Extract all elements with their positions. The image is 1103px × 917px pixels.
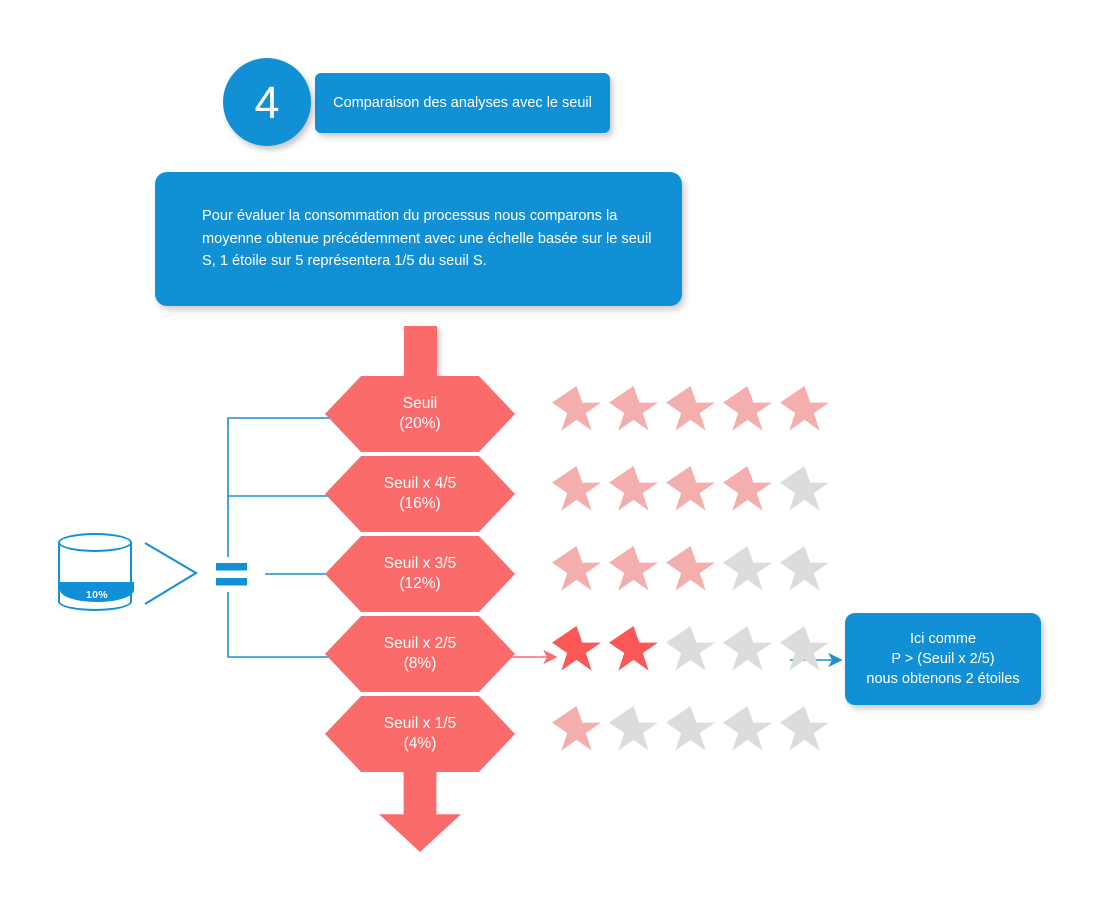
- threshold-percent: (20%): [399, 414, 440, 434]
- description-box: Pour évaluer la consommation du processu…: [155, 172, 682, 306]
- star-filled-icon: [780, 386, 829, 433]
- threshold-percent: (8%): [404, 654, 437, 674]
- threshold-label: Seuil x 1/5: [384, 714, 456, 734]
- star-filled-icon: [552, 386, 601, 433]
- star-filled-icon: [552, 546, 601, 593]
- star-filled-icon: [723, 386, 772, 433]
- star-empty-icon: [609, 706, 658, 753]
- star-filled-icon: [552, 466, 601, 513]
- star-filled-icon: [609, 386, 658, 433]
- threshold-row-1: Seuil (20%): [325, 376, 515, 452]
- star-filled-icon: [609, 626, 658, 673]
- callout-line-3: nous obtenons 2 étoiles: [866, 671, 1019, 687]
- threshold-label: Seuil x 2/5: [384, 634, 456, 654]
- threshold-percent: (12%): [399, 574, 440, 594]
- threshold-label: Seuil: [403, 394, 437, 414]
- connector-lines: [0, 0, 1103, 917]
- star-row-3: [552, 546, 837, 593]
- step-number-badge: 4: [223, 58, 311, 146]
- hexagon-shape: Seuil x 3/5 (12%): [325, 536, 515, 612]
- star-row-1: [552, 386, 837, 433]
- star-empty-icon: [666, 626, 715, 673]
- cylinder-bottom-arc: [58, 592, 132, 611]
- star-empty-icon: [666, 706, 715, 753]
- star-empty-icon: [723, 546, 772, 593]
- hexagon-shape: Seuil x 1/5 (4%): [325, 696, 515, 772]
- callout-line-2: P > (Seuil x 2/5): [891, 651, 994, 667]
- threshold-row-5: Seuil x 1/5 (4%): [325, 696, 515, 772]
- threshold-row-2: Seuil x 4/5 (16%): [325, 456, 515, 532]
- star-filled-icon: [552, 626, 601, 673]
- database-cylinder-icon: 10%: [58, 533, 132, 611]
- star-filled-icon: [609, 466, 658, 513]
- threshold-hexagon-stack: Seuil (20%) Seuil x 4/5 (16%) Seuil x 3/…: [325, 376, 515, 776]
- star-row-2: [552, 466, 837, 513]
- threshold-row-3: Seuil x 3/5 (12%): [325, 536, 515, 612]
- hexagon-shape: Seuil x 4/5 (16%): [325, 456, 515, 532]
- threshold-percent: (4%): [404, 734, 437, 754]
- star-empty-icon: [723, 706, 772, 753]
- star-filled-icon: [552, 706, 601, 753]
- process-arrow-top: [404, 326, 437, 382]
- star-filled-icon: [609, 546, 658, 593]
- cylinder-top-ellipse: [58, 533, 132, 552]
- threshold-percent: (16%): [399, 494, 440, 514]
- callout-text: Ici comme P > (Seuil x 2/5) nous obtenon…: [866, 629, 1019, 690]
- callout-line-1: Ici comme: [910, 631, 976, 647]
- star-filled-icon: [666, 546, 715, 593]
- step-title-label: Comparaison des analyses avec le seuil: [319, 94, 606, 112]
- star-filled-icon: [723, 466, 772, 513]
- star-filled-icon: [666, 386, 715, 433]
- star-empty-icon: [780, 546, 829, 593]
- star-empty-icon: [723, 626, 772, 673]
- star-empty-icon: [780, 706, 829, 753]
- star-row-4: [552, 626, 837, 673]
- hexagon-shape: Seuil (20%): [325, 376, 515, 452]
- diagram-canvas: 4 Comparaison des analyses avec le seuil…: [0, 0, 1103, 917]
- star-filled-icon: [666, 466, 715, 513]
- threshold-row-4: Seuil x 2/5 (8%): [325, 616, 515, 692]
- star-empty-icon: [780, 626, 829, 673]
- hexagon-shape: Seuil x 2/5 (8%): [325, 616, 515, 692]
- step-number-label: 4: [254, 80, 279, 125]
- threshold-label: Seuil x 4/5: [384, 474, 456, 494]
- star-row-5: [552, 706, 837, 753]
- step-title-box: Comparaison des analyses avec le seuil: [315, 73, 610, 133]
- description-text: Pour évaluer la consommation du processu…: [155, 205, 682, 273]
- star-empty-icon: [780, 466, 829, 513]
- result-callout-box: Ici comme P > (Seuil x 2/5) nous obtenon…: [845, 613, 1041, 705]
- threshold-label: Seuil x 3/5: [384, 554, 456, 574]
